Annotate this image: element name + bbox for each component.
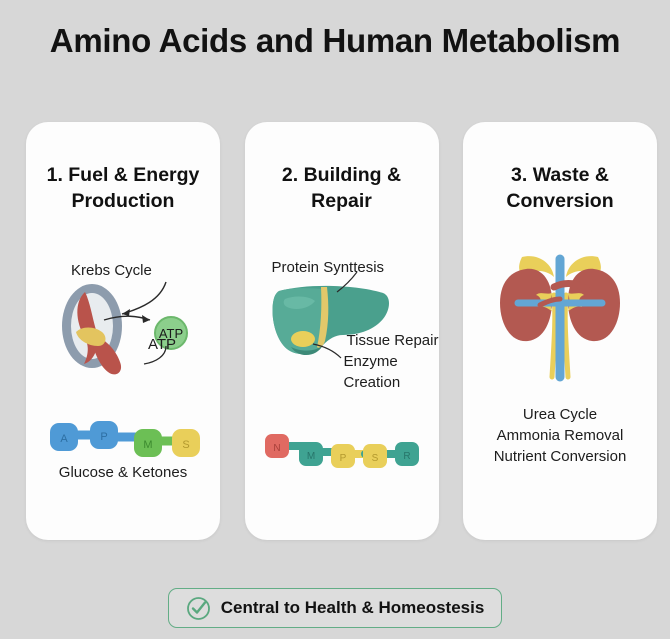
card-heading-line1: 2. Building & <box>282 164 401 186</box>
svg-text:A: A <box>60 433 68 445</box>
cards-row: 1. Fuel & Energy Production <box>26 122 657 540</box>
atp-output-arrow-icon <box>26 346 220 376</box>
card-heading: 1. Fuel & Energy Production <box>34 162 212 214</box>
card-waste-and-conversion[interactable]: 3. Waste & Conversion <box>463 122 657 540</box>
peptide-chain-protein: N M P S R <box>261 430 431 470</box>
krebs-arrow-icon <box>26 274 220 344</box>
page-title: Amino Acids and Human Metabolism <box>0 22 670 60</box>
enzyme-label: Enzyme <box>344 351 398 372</box>
creation-label: Creation <box>344 372 401 393</box>
svg-text:M: M <box>306 451 314 462</box>
waste-line-2: Ammonia Removal <box>463 425 657 446</box>
waste-line-3: Nutrient Conversion <box>463 446 657 467</box>
card-heading-line2: Repair <box>311 190 372 212</box>
card-heading-line1: 3. Waste & <box>511 164 609 186</box>
waste-line-1: Urea Cycle <box>463 404 657 425</box>
svg-text:N: N <box>273 443 280 454</box>
card-heading-line2: Conversion <box>506 190 613 212</box>
infographic-page: Amino Acids and Human Metabolism 1. Fuel… <box>0 0 670 639</box>
card-heading-line1: 1. Fuel & Energy <box>47 164 200 186</box>
svg-text:S: S <box>371 453 378 464</box>
waste-conversion-lines: Urea Cycle Ammonia Removal Nutrient Conv… <box>463 404 657 467</box>
card-heading-line2: Production <box>72 190 175 212</box>
card-building-and-repair[interactable]: 2. Building & Repair Protein Synttesis <box>245 122 439 540</box>
liver-callout-arrows-icon <box>245 272 439 382</box>
svg-text:M: M <box>143 439 152 451</box>
svg-text:R: R <box>403 451 410 462</box>
card-fuel-and-energy[interactable]: 1. Fuel & Energy Production <box>26 122 220 540</box>
footer-text: Central to Health & Homeostesis <box>221 598 485 618</box>
svg-text:P: P <box>100 431 107 443</box>
atp-output-label: ATP <box>148 334 176 355</box>
svg-text:S: S <box>182 439 189 451</box>
svg-text:P: P <box>339 453 346 464</box>
glucose-ketones-label: Glucose & Ketones <box>26 462 220 483</box>
footer-banner[interactable]: Central to Health & Homeostesis <box>168 588 502 628</box>
card-heading: 3. Waste & Conversion <box>471 162 649 214</box>
tissue-repair-label: Tissue Repair <box>347 330 439 351</box>
kidneys-icon <box>496 247 624 382</box>
peptide-chain-glucose: A P M S <box>48 415 208 461</box>
krebs-cycle-label: Krebs Cycle <box>71 260 152 281</box>
check-circle-icon <box>186 596 211 621</box>
card-heading: 2. Building & Repair <box>253 162 431 214</box>
